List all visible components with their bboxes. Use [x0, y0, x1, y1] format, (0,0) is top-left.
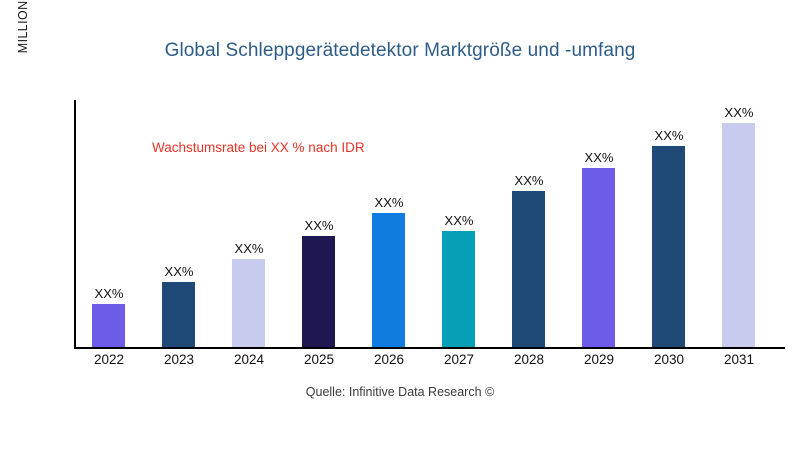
bar-group: XX% — [284, 100, 354, 347]
bar-value-label: XX% — [214, 241, 284, 256]
x-tick-2022: 2022 — [74, 352, 144, 367]
bar-2027[interactable] — [442, 231, 475, 347]
bar-2029[interactable] — [582, 168, 615, 347]
source-caption: Quelle: Infinitive Data Research © — [0, 385, 800, 399]
bar-2022[interactable] — [92, 304, 125, 347]
bar-group: XX% — [424, 100, 494, 347]
bar-group: XX% — [214, 100, 284, 347]
bar-value-label: XX% — [74, 286, 144, 301]
bar-value-label: XX% — [704, 105, 774, 120]
bar-value-label: XX% — [564, 150, 634, 165]
bar-2026[interactable] — [372, 213, 405, 347]
bar-2030[interactable] — [652, 146, 685, 347]
bar-group: XX% — [704, 100, 774, 347]
bar-value-label: XX% — [144, 264, 214, 279]
x-tick-2024: 2024 — [214, 352, 284, 367]
bar-group: XX% — [144, 100, 214, 347]
y-axis-label-text: MILLIONEN USD — [16, 0, 30, 122]
x-tick-2027: 2027 — [424, 352, 494, 367]
bar-group: XX% — [494, 100, 564, 347]
bar-group: XX% — [634, 100, 704, 347]
bar-group: XX% — [564, 100, 634, 347]
bar-2024[interactable] — [232, 259, 265, 347]
x-tick-2031: 2031 — [704, 352, 774, 367]
x-tick-2029: 2029 — [564, 352, 634, 367]
bar-value-label: XX% — [284, 218, 354, 233]
bar-value-label: XX% — [354, 195, 424, 210]
y-axis-label: MILLIONEN USD — [16, 0, 38, 122]
x-axis-tick-labels: 2022202320242025202620272028202920302031 — [74, 352, 785, 376]
chart-title: Global Schleppgerätedetektor Marktgröße … — [0, 40, 800, 62]
bar-2025[interactable] — [302, 236, 335, 347]
x-axis-line — [74, 347, 785, 349]
bar-2028[interactable] — [512, 191, 545, 347]
x-tick-2025: 2025 — [284, 352, 354, 367]
bar-2023[interactable] — [162, 282, 195, 347]
chart-container: Global Schleppgerätedetektor Marktgröße … — [0, 0, 800, 450]
x-tick-2023: 2023 — [144, 352, 214, 367]
x-tick-2026: 2026 — [354, 352, 424, 367]
x-tick-2028: 2028 — [494, 352, 564, 367]
bar-2031[interactable] — [722, 123, 755, 347]
bar-value-label: XX% — [424, 213, 494, 228]
bar-value-label: XX% — [634, 128, 704, 143]
growth-rate-annotation: Wachstumsrate bei XX % nach IDR — [152, 140, 365, 155]
bar-group: XX% — [74, 100, 144, 347]
x-tick-2030: 2030 — [634, 352, 704, 367]
plot-area: XX%XX%XX%XX%XX%XX%XX%XX%XX%XX% — [74, 100, 785, 347]
bar-group: XX% — [354, 100, 424, 347]
bar-value-label: XX% — [494, 173, 564, 188]
